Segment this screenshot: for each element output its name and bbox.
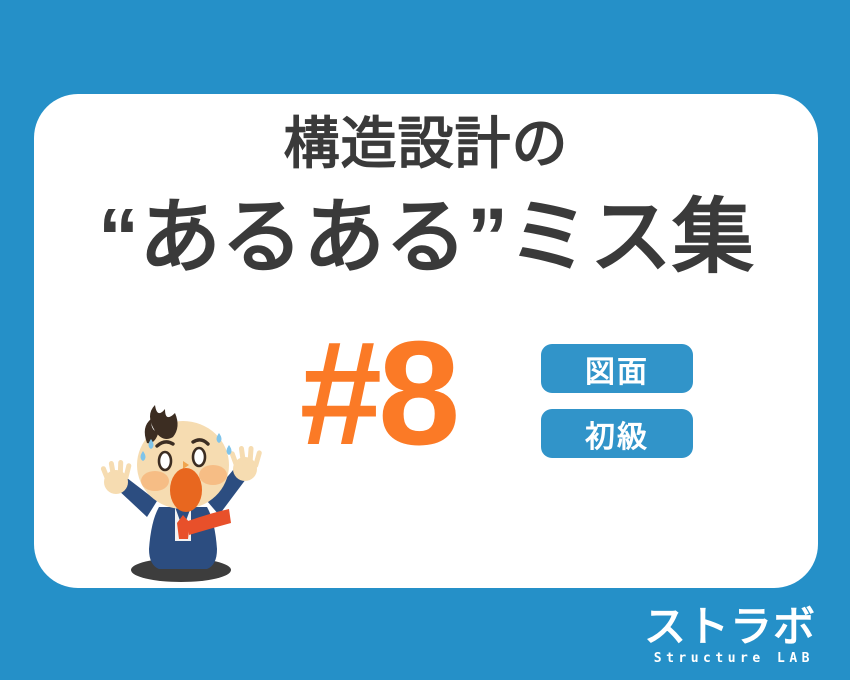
page-title-line-2: “あるある”ミス集 — [34, 186, 818, 290]
tag-badge-level[interactable]: 初級 — [541, 409, 693, 458]
mascot-eye-right — [193, 448, 205, 466]
brand-logo-subtitle: Structure LAB — [644, 650, 816, 668]
page-title-line-1: 構造設計の — [34, 112, 818, 176]
tag-badge-group: 図面 初級 — [541, 344, 693, 458]
panicking-businessman-illustration — [89, 389, 269, 584]
mascot-mouth — [170, 468, 202, 512]
content-card: 構造設計の “あるある”ミス集 #8 図面 初級 — [34, 94, 818, 588]
tag-badge-category[interactable]: 図面 — [541, 344, 693, 393]
issue-number: #8 — [283, 320, 473, 468]
mascot-eye-left — [159, 452, 171, 470]
brand-logo-mark: ストラボ — [644, 604, 816, 650]
brand-logo: ストラボ Structure LAB — [644, 604, 816, 668]
mascot-blush-left — [141, 471, 169, 491]
mascot-blush-right — [199, 465, 227, 485]
slide-canvas: 構造設計の “あるある”ミス集 #8 図面 初級 — [0, 0, 850, 680]
